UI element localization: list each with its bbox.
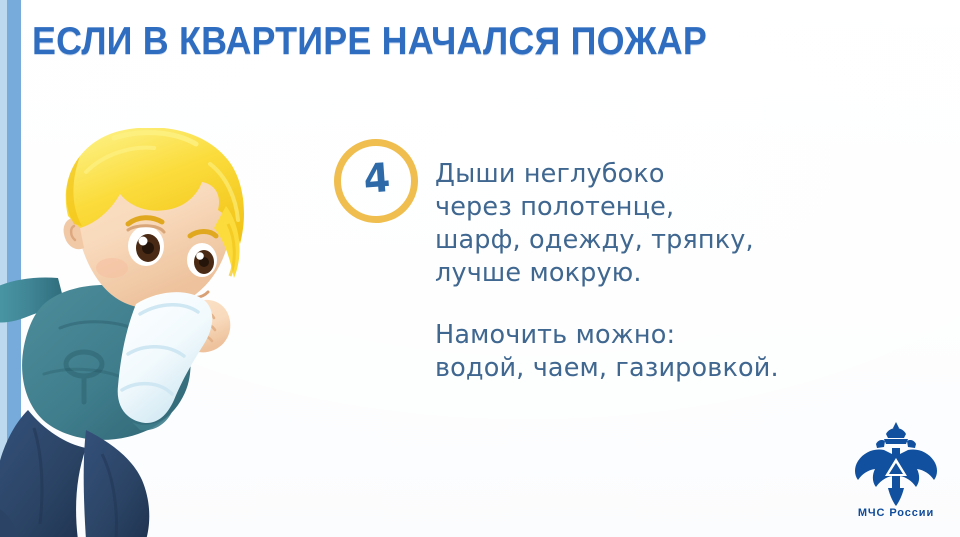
- instruction-text-block: Дыши неглубоко через полотенце, шарф, од…: [435, 158, 779, 385]
- page-title: ЕСЛИ В КВАРТИРЕ НАЧАЛСЯ ПОЖАР: [32, 20, 707, 64]
- instruction-paragraph-1: Дыши неглубоко через полотенце, шарф, од…: [435, 158, 779, 290]
- boy-illustration: [0, 128, 282, 537]
- emercom-eagle-icon: [850, 420, 942, 506]
- step-number-badge: 4: [334, 139, 418, 223]
- emercom-logo-caption: МЧС России: [858, 507, 934, 519]
- poster-canvas: ЕСЛИ В КВАРТИРЕ НАЧАЛСЯ ПОЖАР: [0, 0, 960, 537]
- step-number-value: 4: [362, 158, 391, 200]
- instruction-paragraph-2: Намочить можно: водой, чаем, газировкой.: [435, 319, 779, 385]
- emercom-logo: МЧС России: [840, 420, 952, 525]
